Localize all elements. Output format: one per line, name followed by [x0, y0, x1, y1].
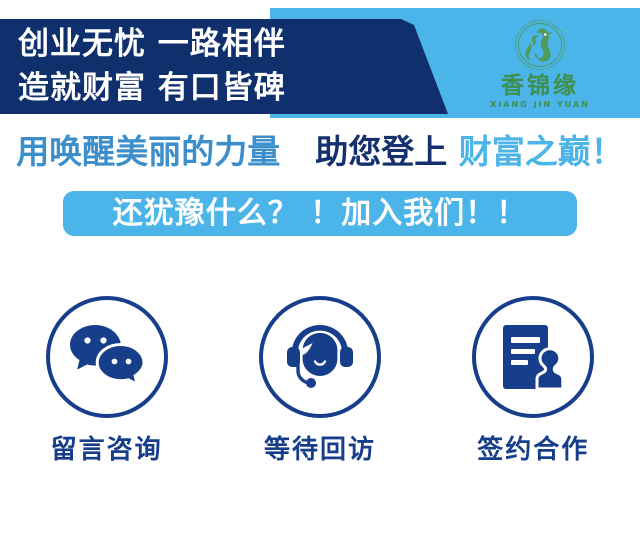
step-item-consult[interactable]: 留言咨询 — [7, 296, 207, 466]
banner-headline: 创业无忧 一路相伴 造就财富 有口皆碑 — [18, 22, 398, 110]
step-icon-circle — [259, 296, 381, 418]
step-icon-circle — [472, 296, 594, 418]
contract-stamp-icon — [497, 321, 569, 393]
step-icon-circle — [46, 296, 168, 418]
subheadline-segment-2: 助您登上 — [315, 132, 447, 171]
subheadline-segment-1: 用唤醒美丽的力量 — [16, 132, 280, 171]
subheadline: 用唤醒美丽的力量 助您登上 财富之巅！ — [0, 126, 640, 178]
join-us-cta-button[interactable]: 还犹豫什么？ ！加入我们！！ — [63, 191, 577, 236]
step-label: 签约合作 — [433, 434, 633, 466]
phoenix-circle-emblem-icon — [513, 18, 567, 72]
logo-pinyin: XIANG JIN YUAN — [476, 100, 604, 110]
step-label: 留言咨询 — [7, 434, 207, 466]
subheadline-segment-3: 财富之巅！ — [459, 132, 624, 171]
chat-bubbles-icon — [68, 322, 146, 392]
step-label: 等待回访 — [220, 434, 420, 466]
banner-headline-line-2: 造就财富 有口皆碑 — [18, 66, 398, 110]
top-banner: 创业无忧 一路相伴 造就财富 有口皆碑 香锦缘 XIANG JIN YUAN — [0, 0, 640, 120]
process-steps: 留言咨询 等待回访 — [0, 296, 640, 496]
step-item-callback[interactable]: 等待回访 — [220, 296, 420, 466]
brand-logo: 香锦缘 XIANG JIN YUAN — [476, 18, 604, 114]
headset-agent-icon — [282, 321, 358, 393]
step-item-contract[interactable]: 签约合作 — [433, 296, 633, 466]
logo-name: 香锦缘 — [476, 73, 604, 99]
banner-headline-line-1: 创业无忧 一路相伴 — [18, 22, 398, 66]
